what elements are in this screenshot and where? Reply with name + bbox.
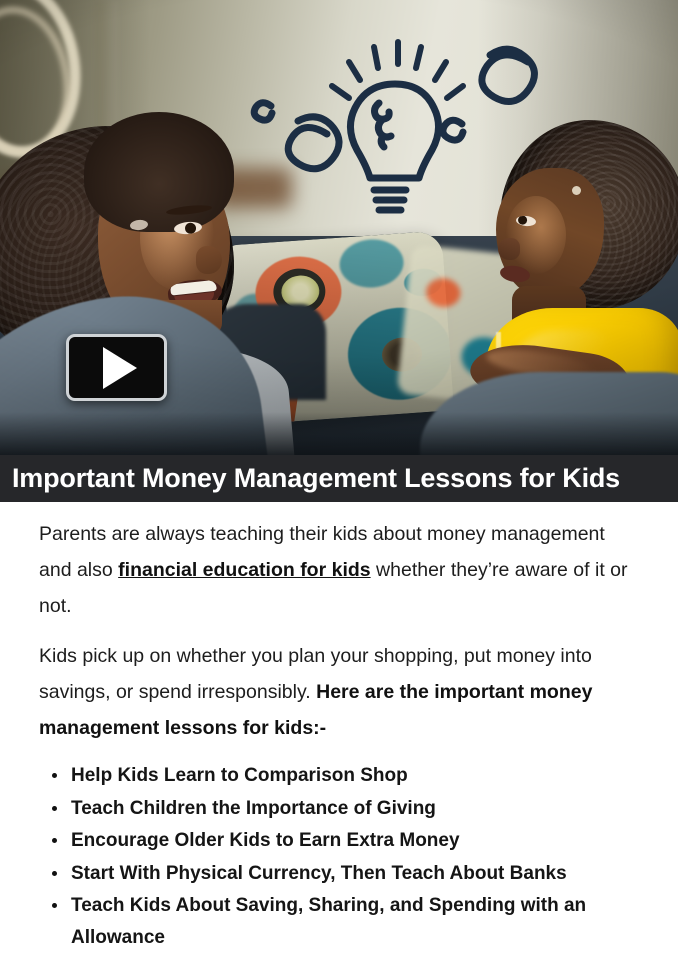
couch-bottom-shadow [0, 412, 678, 455]
list-item: Teach Kids About Saving, Sharing, and Sp… [39, 890, 642, 953]
list-item: Encourage Older Kids to Earn Extra Money [39, 825, 642, 857]
title-bar: Important Money Management Lessons for K… [0, 455, 678, 502]
play-button[interactable] [66, 334, 167, 401]
list-item: Help Kids Learn to Comparison Shop [39, 760, 642, 792]
woman-nose [196, 246, 222, 274]
list-item: Start With Physical Currency, Then Teach… [39, 858, 642, 890]
list-item: Teach Children the Importance of Giving [39, 793, 642, 825]
video-player[interactable] [0, 0, 678, 455]
woman-hair-top [84, 112, 234, 232]
financial-education-link[interactable]: financial education for kids [118, 559, 370, 581]
article-page: Important Money Management Lessons for K… [0, 0, 678, 960]
paragraph-2: Kids pick up on whether you plan your sh… [39, 638, 642, 746]
page-title: Important Money Management Lessons for K… [0, 463, 620, 494]
child-nose [498, 238, 520, 260]
child-earring [572, 186, 581, 195]
child-face-highlight [506, 196, 566, 274]
play-icon [103, 347, 137, 389]
paragraph-1: Parents are always teaching their kids a… [39, 516, 642, 624]
lessons-list: Help Kids Learn to Comparison Shop Teach… [39, 760, 642, 953]
article-body: Parents are always teaching their kids a… [0, 502, 678, 960]
